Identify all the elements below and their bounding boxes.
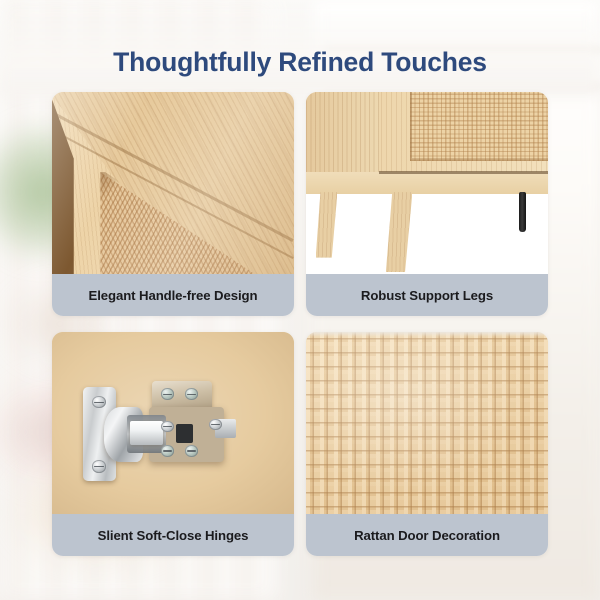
feature-card-handle-free-design[interactable]: Elegant Handle-free Design: [52, 92, 294, 316]
photo-rattan-weave: [306, 332, 548, 514]
feature-card-soft-close-hinges[interactable]: Slient Soft-Close Hinges: [52, 332, 294, 556]
rattan-shading: [306, 332, 548, 514]
hinge-screw-top-left: [161, 388, 174, 399]
caption-support-legs: Robust Support Legs: [306, 274, 548, 316]
support-leg-left: [316, 192, 338, 258]
feature-card-support-legs[interactable]: Robust Support Legs: [306, 92, 548, 316]
caption-rattan-decoration: Rattan Door Decoration: [306, 514, 548, 556]
caption-soft-close-hinges: Slient Soft-Close Hinges: [52, 514, 294, 556]
photo-handle-free-design: [52, 92, 294, 274]
hinge-screw-top-right: [185, 388, 198, 399]
hinge-screw-bottom-right: [185, 445, 198, 456]
cabinet-bottom-rail: [306, 172, 548, 194]
rattan-top-edge: [306, 332, 548, 337]
hinge-damper: [176, 424, 193, 443]
soft-close-hinge: [83, 387, 233, 482]
under-cabinet-shadow: [379, 171, 548, 174]
feature-card-rattan-decoration[interactable]: Rattan Door Decoration: [306, 332, 548, 556]
photo-soft-close-hinge: [52, 332, 294, 514]
support-leg-center: [386, 192, 413, 272]
page-title: Thoughtfully Refined Touches: [0, 47, 600, 78]
feature-card-grid: Elegant Handle-free Design Robust Suppor…: [52, 92, 548, 556]
product-feature-page: Thoughtfully Refined Touches Elegant Han…: [0, 0, 600, 600]
hinge-screw-bottom-left: [161, 445, 174, 456]
leg-grain: [316, 192, 338, 258]
photo-shading: [52, 92, 294, 274]
rattan-door-frame: [410, 92, 548, 161]
leg-grain: [386, 192, 413, 272]
photo-support-legs: [306, 92, 548, 274]
hinge-screw-plate-bottom: [92, 460, 106, 472]
caption-handle-free-design: Elegant Handle-free Design: [52, 274, 294, 316]
hinge-arm: [130, 421, 163, 446]
support-leg-black-metal: [519, 192, 527, 232]
